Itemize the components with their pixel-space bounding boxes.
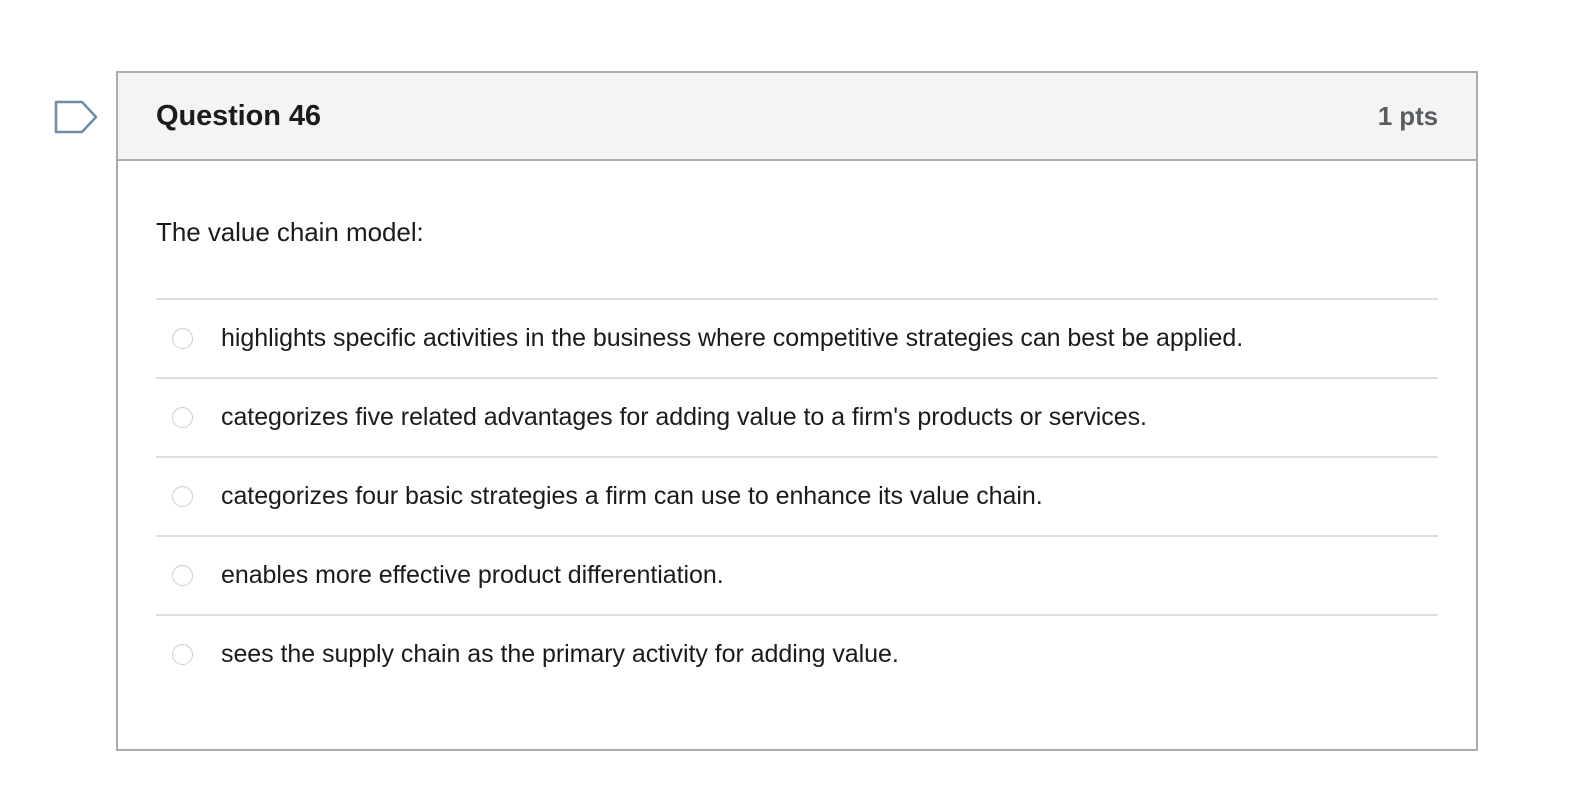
flag-outline-icon[interactable]	[52, 96, 100, 138]
answer-option-3[interactable]: categorizes four basic strategies a firm…	[156, 456, 1438, 535]
answer-option-label: highlights specific activities in the bu…	[221, 322, 1243, 355]
answer-options-list: highlights specific activities in the bu…	[156, 298, 1438, 693]
radio-button-icon[interactable]	[172, 407, 193, 428]
page-title: Question 46	[156, 102, 321, 131]
answer-option-label: categorizes five related advantages for …	[221, 401, 1147, 434]
answer-option-5[interactable]: sees the supply chain as the primary act…	[156, 614, 1438, 693]
question-header: Question 46 1 pts	[118, 73, 1476, 161]
radio-button-icon[interactable]	[172, 565, 193, 586]
answer-option-label: categorizes four basic strategies a firm…	[221, 480, 1043, 513]
quiz-question-page: Question 46 1 pts The value chain model:…	[0, 0, 1582, 796]
radio-button-icon[interactable]	[172, 644, 193, 665]
question-card: Question 46 1 pts The value chain model:…	[116, 71, 1478, 751]
radio-button-icon[interactable]	[172, 328, 193, 349]
question-prompt: The value chain model:	[156, 161, 1438, 298]
answer-option-1[interactable]: highlights specific activities in the bu…	[156, 298, 1438, 377]
answer-option-2[interactable]: categorizes five related advantages for …	[156, 377, 1438, 456]
answer-option-4[interactable]: enables more effective product different…	[156, 535, 1438, 614]
answer-option-label: sees the supply chain as the primary act…	[221, 638, 899, 671]
radio-button-icon[interactable]	[172, 486, 193, 507]
answer-option-label: enables more effective product different…	[221, 559, 724, 592]
question-body: The value chain model: highlights specif…	[118, 161, 1476, 693]
question-points-badge: 1 pts	[1378, 103, 1438, 129]
